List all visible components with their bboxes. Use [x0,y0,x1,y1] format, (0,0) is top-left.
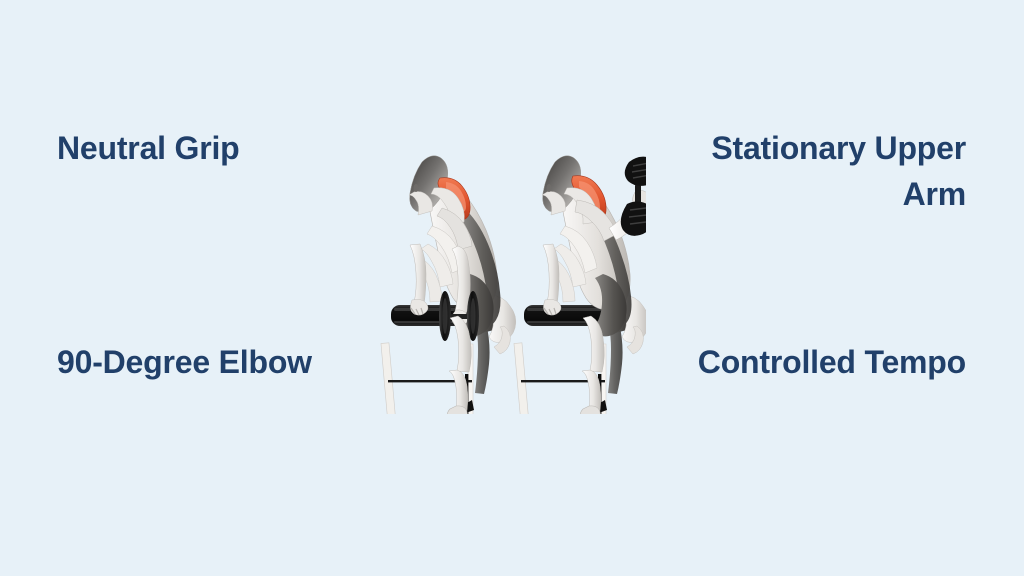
slide-canvas: Neutral Grip Stationary Upper Arm 90-Deg… [0,0,1024,576]
dumbbell-handle [635,184,641,204]
label-top-left: Neutral Grip [57,125,240,171]
dumbbell-plate-bottom [621,202,646,236]
dumbbell-plate-right-sheen [471,298,476,334]
support-hand [543,299,561,315]
support-hand [410,299,428,315]
dumbbell-plate-left-sheen [443,298,448,334]
bench-leg-front [381,343,396,414]
figure-start-position [381,156,516,414]
label-top-right: Stationary Upper Arm [666,125,966,217]
exercise-illustration [378,148,646,414]
label-bottom-left: 90-Degree Elbow [57,339,312,385]
figure-end-position [514,156,646,414]
ear [414,184,419,192]
support-arm [410,244,426,304]
support-arm [543,244,559,304]
ear [547,184,552,192]
bench-leg-front [514,343,529,414]
label-bottom-right: Controlled Tempo [626,339,966,385]
